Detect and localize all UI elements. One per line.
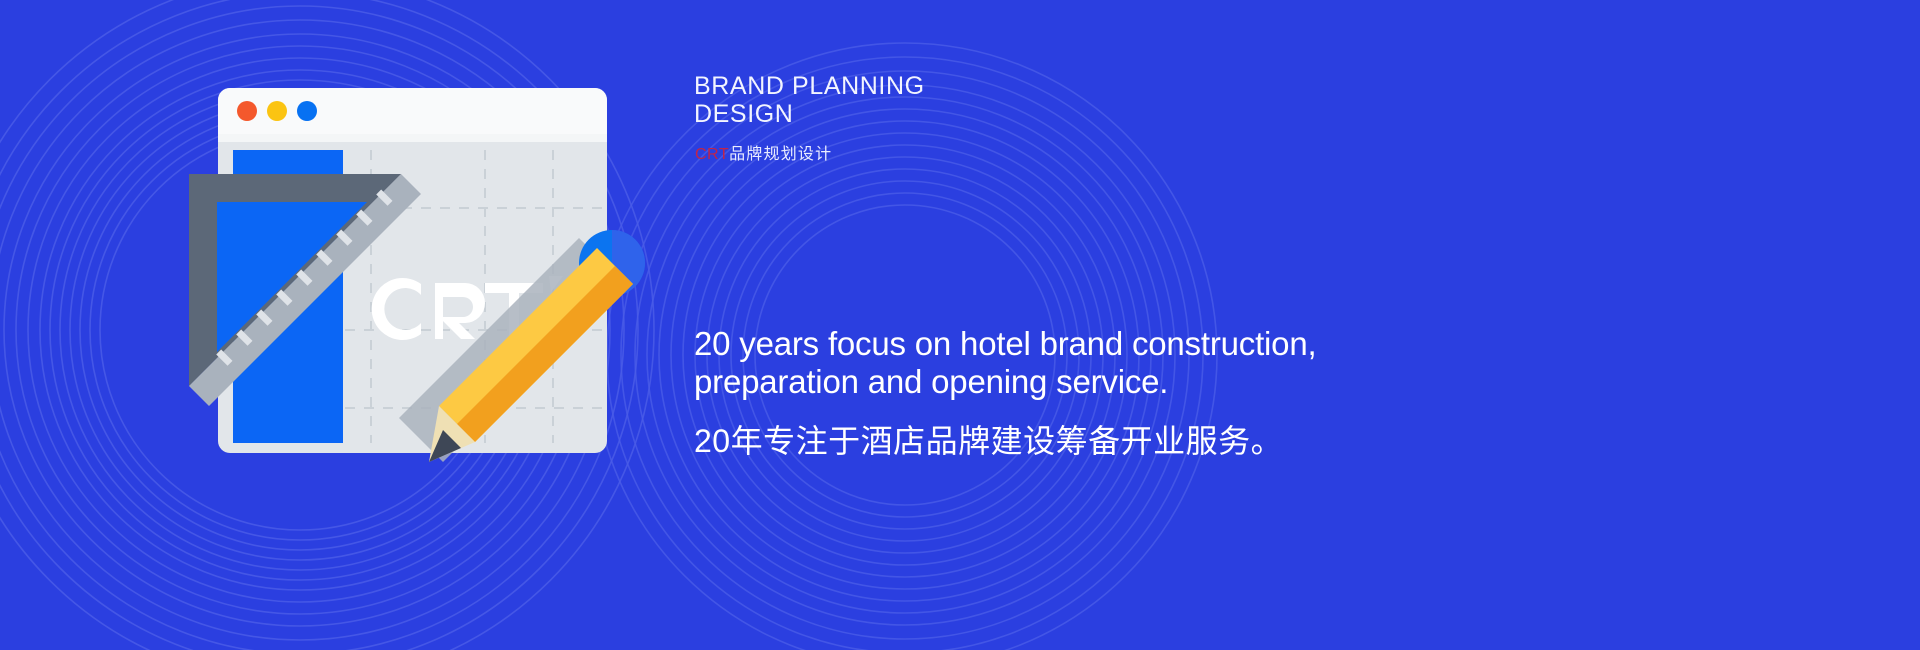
eyebrow-line-2: DESIGN xyxy=(694,100,1294,128)
eyebrow-heading: BRAND PLANNING DESIGN xyxy=(694,72,1294,128)
window-dot-blue xyxy=(297,101,317,121)
window-dot-red xyxy=(237,101,257,121)
headline-block: 20 years focus on hotel brand constructi… xyxy=(694,325,1414,461)
copy-block: BRAND PLANNING DESIGN CRT品牌规划设计 20 years… xyxy=(694,0,1824,650)
window-dot-yellow xyxy=(267,101,287,121)
subtitle-chinese: CRT品牌规划设计 xyxy=(695,140,832,164)
promo-banner: BRAND PLANNING DESIGN CRT品牌规划设计 20 years… xyxy=(0,0,1920,650)
headline-chinese: 20年专注于酒店品牌建设筹备开业服务。 xyxy=(694,421,1414,461)
subtitle-brand: CRT xyxy=(695,146,729,163)
subtitle-text: 品牌规划设计 xyxy=(729,146,832,163)
brand-design-illustration xyxy=(185,78,685,463)
headline-english-line-2: preparation and opening service. xyxy=(694,363,1414,401)
headline-english-line-1: 20 years focus on hotel brand constructi… xyxy=(694,325,1414,363)
eyebrow-line-1: BRAND PLANNING xyxy=(694,72,1294,100)
